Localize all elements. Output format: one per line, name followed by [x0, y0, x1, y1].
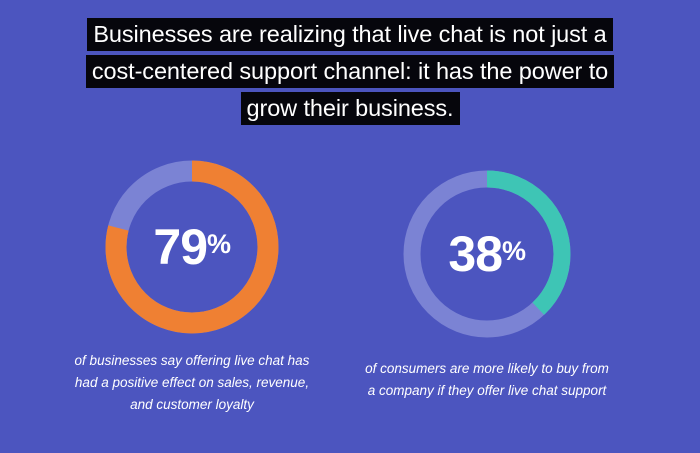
donut-chart-79: 79%: [105, 160, 279, 334]
caption-businesses-line-1: of businesses say offering live chat has: [56, 350, 328, 372]
headline-line-1: Businesses are realizing that live chat …: [0, 18, 700, 51]
caption-consumers-line-2: a company if they offer live chat suppor…: [346, 380, 628, 402]
caption-consumers: of consumers are more likely to buy from…: [346, 358, 628, 402]
headline-line-2: cost-centered support channel: it has th…: [0, 55, 700, 88]
stat-block-consumers: 38% of consumers are more likely to buy …: [322, 160, 652, 450]
headline-line-1-text: Businesses are realizing that live chat …: [87, 18, 612, 51]
stat-block-businesses: 79% of businesses say offering live chat…: [27, 160, 357, 450]
headline-line-3: grow their business.: [0, 92, 700, 125]
donut-chart-79-svg: [105, 160, 279, 334]
headline: Businesses are realizing that live chat …: [0, 18, 700, 129]
stats-row: 79% of businesses say offering live chat…: [0, 160, 700, 450]
infographic-canvas: Businesses are realizing that live chat …: [0, 0, 700, 453]
headline-line-2-text: cost-centered support channel: it has th…: [86, 55, 614, 88]
donut-chart-38: 38%: [403, 170, 571, 338]
donut-chart-38-svg: [403, 170, 571, 338]
caption-businesses: of businesses say offering live chat has…: [56, 350, 328, 416]
caption-consumers-line-1: of consumers are more likely to buy from: [346, 358, 628, 380]
caption-businesses-line-2: had a positive effect on sales, revenue,: [56, 372, 328, 394]
headline-line-3-text: grow their business.: [241, 92, 460, 125]
caption-businesses-line-3: and customer loyalty: [56, 394, 328, 416]
